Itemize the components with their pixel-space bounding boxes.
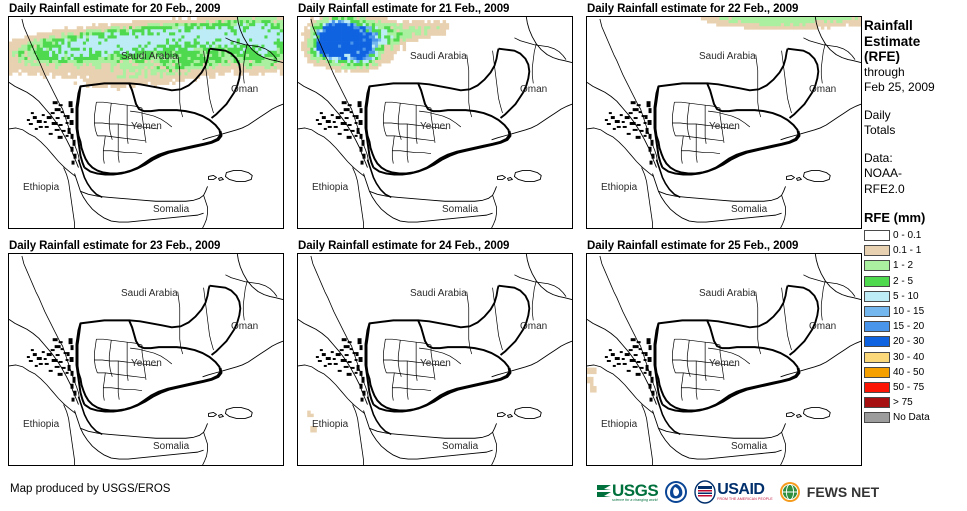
legend-row: 30 - 40 [864, 350, 967, 365]
legend-swatch [864, 245, 890, 256]
spacer [864, 197, 967, 210]
map-frame[interactable]: Saudi Arabia Oman Yemen Ethiopia Somalia [297, 253, 573, 466]
basemap-boundaries [9, 254, 283, 465]
legend-swatch [864, 367, 890, 378]
sidebar-data-source2: RFE2.0 [864, 182, 967, 198]
map-panel-2: Daily Rainfall estimate for 21 Feb., 200… [297, 2, 573, 229]
sidebar-data-source1: NOAA- [864, 166, 967, 182]
usaid-tagline: FROM THE AMERICAN PEOPLE [717, 498, 773, 501]
map-panel-4: Daily Rainfall estimate for 23 Feb., 200… [8, 239, 284, 466]
basemap-boundaries [587, 17, 861, 228]
map-panel-5: Daily Rainfall estimate for 24 Feb., 200… [297, 239, 573, 466]
legend: RFE (mm) 0 - 0.10.1 - 11 - 22 - 55 - 101… [864, 210, 967, 425]
legend-swatch [864, 230, 890, 241]
legend-swatch [864, 336, 890, 347]
legend-label: No Data [893, 412, 930, 423]
map-canvas [298, 254, 572, 465]
sidebar-data-label: Data: [864, 151, 967, 167]
legend-row: 2 - 5 [864, 274, 967, 289]
sidebar-through: through [864, 65, 967, 81]
usaid-wordmark: USAID [717, 482, 773, 498]
legend-label: 40 - 50 [893, 367, 924, 378]
agency-logos: USGS science for a changing world USAID [596, 477, 879, 507]
usaid-logo[interactable]: USAID FROM THE AMERICAN PEOPLE [694, 478, 773, 506]
legend-label: 15 - 20 [893, 321, 924, 332]
legend-row: 40 - 50 [864, 365, 967, 380]
legend-row: 50 - 75 [864, 380, 967, 395]
usgs-wordmark: USGS [612, 482, 658, 499]
map-frame[interactable]: Saudi Arabia Oman Yemen Ethiopia Somalia [297, 16, 573, 229]
legend-swatch [864, 276, 890, 287]
map-frame[interactable]: Saudi Arabia Oman Yemen Ethiopia Somalia [586, 253, 862, 466]
sidebar-title-line3: (RFE) [864, 49, 967, 65]
panel-title: Daily Rainfall estimate for 20 Feb., 200… [8, 2, 284, 16]
legend-row: 15 - 20 [864, 319, 967, 334]
usaid-seal-icon [694, 480, 716, 504]
legend-label: 5 - 10 [893, 291, 919, 302]
legend-rows: 0 - 0.10.1 - 11 - 22 - 55 - 1010 - 1515 … [864, 228, 967, 425]
legend-label: 0.1 - 1 [893, 245, 921, 256]
map-canvas [9, 254, 283, 465]
map-frame[interactable]: Saudi Arabia Oman Yemen Ethiopia Somalia [8, 16, 284, 229]
legend-row: 20 - 30 [864, 334, 967, 349]
basemap-boundaries [298, 17, 572, 228]
legend-heading: RFE (mm) [864, 210, 967, 225]
legend-label: 20 - 30 [893, 336, 924, 347]
legend-row: No Data [864, 410, 967, 425]
panel-title: Daily Rainfall estimate for 21 Feb., 200… [297, 2, 573, 16]
panel-title: Daily Rainfall estimate for 22 Feb., 200… [586, 2, 862, 16]
legend-swatch [864, 321, 890, 332]
noaa-logo[interactable] [664, 478, 688, 506]
legend-row: > 75 [864, 395, 967, 410]
legend-label: 10 - 15 [893, 306, 924, 317]
legend-row: 1 - 2 [864, 258, 967, 273]
legend-swatch [864, 306, 890, 317]
sidebar-title-line2: Estimate [864, 34, 967, 50]
noaa-seal-icon [664, 480, 688, 504]
legend-row: 10 - 15 [864, 304, 967, 319]
legend-swatch [864, 352, 890, 363]
legend-swatch [864, 412, 890, 423]
sidebar-totals: Totals [864, 123, 967, 139]
sidebar: Rainfall Estimate (RFE) through Feb 25, … [864, 18, 967, 425]
map-canvas [298, 17, 572, 228]
map-canvas [587, 254, 861, 465]
legend-swatch [864, 260, 890, 271]
fewsnet-wordmark: FEWS NET [807, 484, 879, 500]
map-canvas [9, 17, 283, 228]
legend-row: 0 - 0.1 [864, 228, 967, 243]
map-credit: Map produced by USGS/EROS [10, 483, 170, 495]
panel-title: Daily Rainfall estimate for 25 Feb., 200… [586, 239, 862, 253]
basemap-boundaries [298, 254, 572, 465]
basemap-boundaries [9, 17, 283, 228]
map-panel-6: Daily Rainfall estimate for 25 Feb., 200… [586, 239, 862, 466]
sidebar-title-line1: Rainfall [864, 18, 967, 34]
fewsnet-globe-icon [779, 481, 801, 503]
legend-label: 1 - 2 [893, 260, 913, 271]
legend-row: 0.1 - 1 [864, 243, 967, 258]
fewsnet-logo[interactable]: FEWS NET [779, 478, 879, 506]
usgs-tagline: science for a changing world [612, 499, 658, 503]
sidebar-daily: Daily [864, 108, 967, 124]
legend-label: 50 - 75 [893, 382, 924, 393]
legend-label: > 75 [893, 397, 913, 408]
legend-row: 5 - 10 [864, 289, 967, 304]
map-frame[interactable]: Saudi Arabia Oman Yemen Ethiopia Somalia [8, 253, 284, 466]
map-panel-3: Daily Rainfall estimate for 22 Feb., 200… [586, 2, 862, 229]
legend-swatch [864, 382, 890, 393]
legend-label: 30 - 40 [893, 352, 924, 363]
basemap-boundaries [587, 254, 861, 465]
legend-label: 2 - 5 [893, 276, 913, 287]
usgs-mark-icon [596, 482, 612, 502]
legend-label: 0 - 0.1 [893, 230, 921, 241]
map-panel-1: Daily Rainfall estimate for 20 Feb., 200… [8, 2, 284, 229]
map-frame[interactable]: Saudi Arabia Oman Yemen Ethiopia Somalia [586, 16, 862, 229]
panel-title: Daily Rainfall estimate for 24 Feb., 200… [297, 239, 573, 253]
usgs-logo[interactable]: USGS science for a changing world [596, 478, 658, 506]
legend-swatch [864, 291, 890, 302]
sidebar-through-date: Feb 25, 2009 [864, 80, 967, 96]
panel-title: Daily Rainfall estimate for 23 Feb., 200… [8, 239, 284, 253]
spacer [864, 139, 967, 151]
spacer [864, 96, 967, 108]
legend-swatch [864, 397, 890, 408]
map-canvas [587, 17, 861, 228]
